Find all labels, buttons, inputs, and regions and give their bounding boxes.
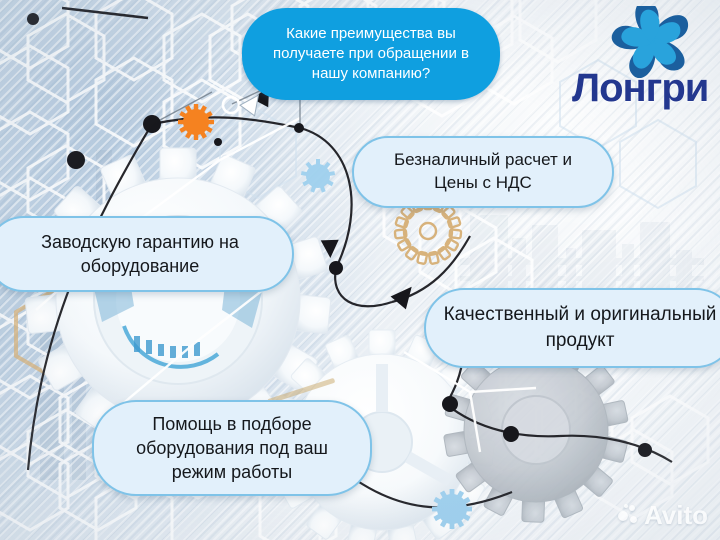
benefit-bubble-nds: Безналичный расчет и Цены с НДС: [352, 136, 614, 208]
avito-watermark-label: Avito: [644, 502, 708, 528]
benefit-bubble-quality: Качественный и оригинальный продукт: [424, 288, 720, 368]
avito-watermark: Avito: [618, 502, 708, 528]
brand-name: Лонгри: [572, 68, 720, 108]
question-callout: Какие преимущества вы получаете при обра…: [242, 8, 500, 100]
avito-dots-icon: [618, 504, 640, 526]
brand-logo: Лонгри: [578, 6, 720, 118]
benefit-bubble-warranty: Заводскую гарантию на оборудование: [0, 216, 294, 292]
banner-canvas: Лонгри Какие преимущества вы получаете п…: [0, 0, 720, 540]
benefit-bubble-help: Помощь в подборе оборудования под ваш ре…: [92, 400, 372, 496]
